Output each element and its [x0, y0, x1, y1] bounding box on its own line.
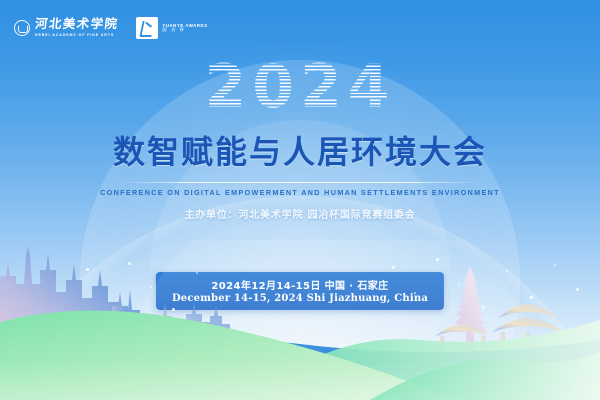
scenery-illustration: [0, 240, 600, 400]
yuanye-name-cn: 园 冶 杯: [162, 28, 207, 33]
academy-name-cn: 河北美术学院: [34, 18, 119, 31]
logo-yuanye-award[interactable]: YUANYE AWARDS 园 冶 杯: [136, 17, 207, 39]
year-block: 2024: [0, 52, 600, 122]
academy-name-en: HEBEI ACADEMY OF FINE ARTS: [35, 34, 118, 38]
yuanye-mark-icon: [136, 17, 158, 39]
logo-hebei-academy-of-fine-arts[interactable]: 河北美术学院 HEBEI ACADEMY OF FINE ARTS: [14, 18, 118, 37]
conference-title-cn: 数智赋能与人居环境大会: [0, 127, 600, 173]
title-divider: [120, 182, 480, 183]
conference-title-en: CONFERENCE ON DIGITAL EMPOWERMENT AND HU…: [0, 188, 600, 197]
academy-seal-icon: [14, 20, 30, 36]
organizer-line: 主办单位：河北美术学院 园冶杯国际竞赛组委会: [0, 206, 600, 221]
conference-poster: 河北美术学院 HEBEI ACADEMY OF FINE ARTS YUANYE…: [0, 0, 600, 400]
year-text: 2024: [205, 52, 396, 122]
header-logo-bar: 河北美术学院 HEBEI ACADEMY OF FINE ARTS YUANYE…: [0, 0, 600, 56]
title-block: 数智赋能与人居环境大会 CONFERENCE ON DIGITAL EMPOWE…: [0, 127, 600, 197]
